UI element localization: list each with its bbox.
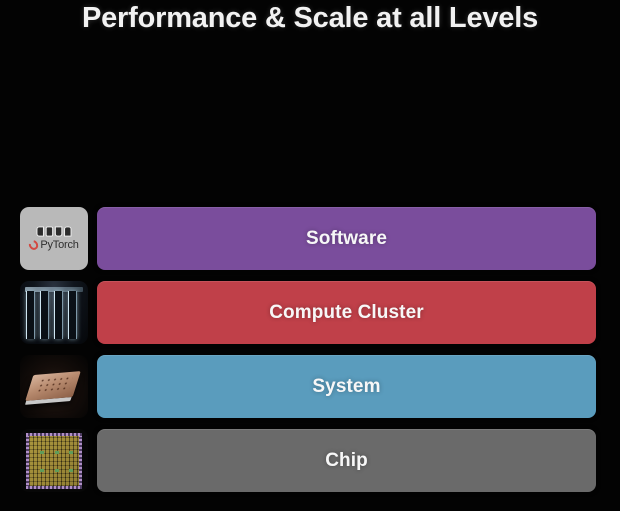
- levels-stack: PyTorch Software Compute Cluster: [0, 207, 620, 503]
- presentation-slide: Performance & Scale at all Levels PyTorc…: [0, 0, 620, 511]
- cabinet-icon: [68, 291, 77, 339]
- dojo-logo-icon: [37, 226, 72, 236]
- system-tray-thumbnail: [20, 355, 88, 418]
- cabinet-icon: [40, 291, 49, 339]
- level-row-system: System: [0, 355, 620, 418]
- pytorch-logo-label: PyTorch: [40, 239, 78, 251]
- dojo-pytorch-logo-thumbnail: PyTorch: [20, 207, 88, 270]
- pytorch-flame-icon: [27, 238, 40, 251]
- level-bar-label: Chip: [325, 450, 368, 472]
- level-bar-system[interactable]: System: [97, 355, 596, 418]
- level-bar-label: Software: [306, 228, 387, 250]
- cabinet-icon: [54, 291, 63, 339]
- compute-cabinets-thumbnail: [20, 281, 88, 344]
- level-row-software: PyTorch Software: [0, 207, 620, 270]
- level-bar-label: System: [312, 376, 380, 398]
- level-row-compute-cluster: Compute Cluster: [0, 281, 620, 344]
- chip-die-icon: [26, 433, 82, 489]
- pytorch-logo-icon: PyTorch: [29, 239, 78, 251]
- level-bar-label: Compute Cluster: [269, 302, 424, 324]
- cabinet-icon: [26, 291, 35, 339]
- level-row-chip: Chip: [0, 429, 620, 492]
- level-bar-compute-cluster[interactable]: Compute Cluster: [97, 281, 596, 344]
- system-tray-icon: [25, 371, 81, 401]
- level-bar-chip[interactable]: Chip: [97, 429, 596, 492]
- level-bar-software[interactable]: Software: [97, 207, 596, 270]
- page-title: Performance & Scale at all Levels: [0, 2, 620, 35]
- chip-die-thumbnail: [20, 429, 88, 492]
